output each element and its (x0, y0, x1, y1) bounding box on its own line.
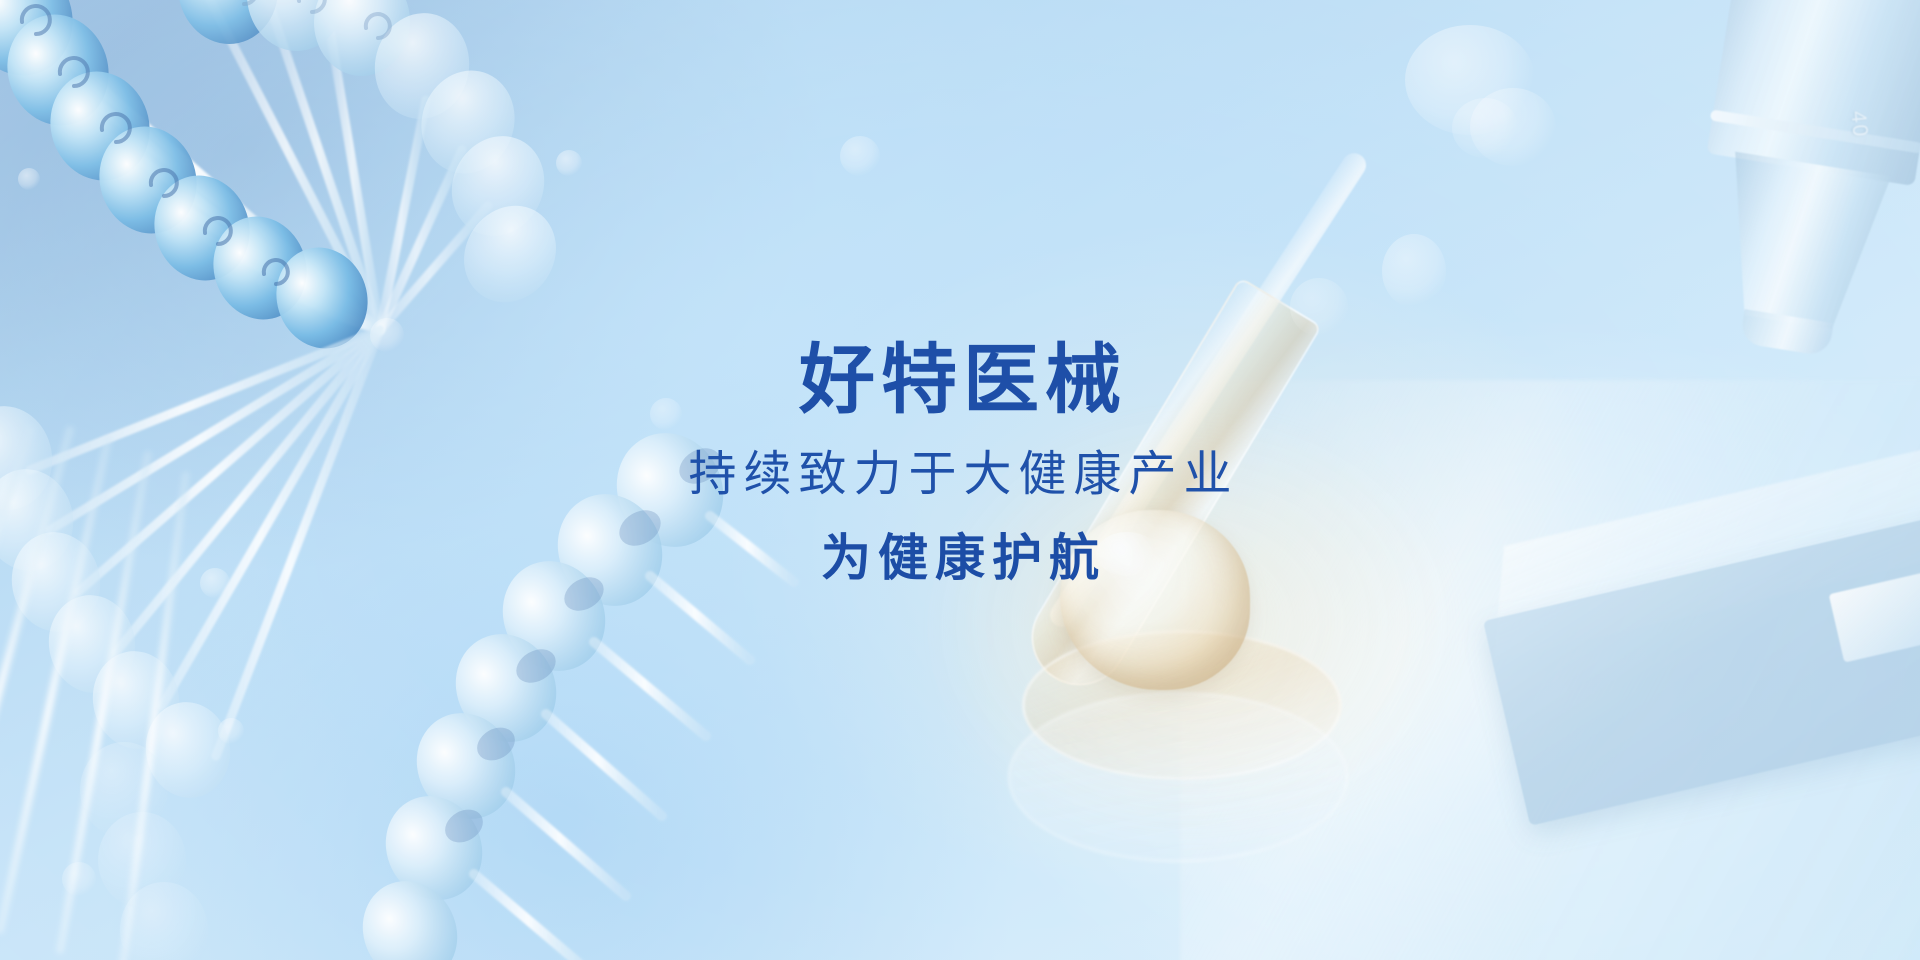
hero-text-block: 好特医械 持续致力于大健康产业 为健康护航 (0, 340, 1920, 586)
petri-dish-secondary-icon (1008, 692, 1348, 862)
microscope-cone (1710, 152, 1891, 335)
microscope-magnification-label: 40 (1845, 110, 1871, 139)
hero-banner: 40 好特医械 持续致力于大健康产业 为健康护航 (0, 0, 1920, 960)
hero-subtitle: 持续致力于大健康产业 (0, 448, 1920, 502)
page-title: 好特医械 (0, 340, 1920, 422)
hero-tagline: 为健康护航 (0, 530, 1920, 586)
